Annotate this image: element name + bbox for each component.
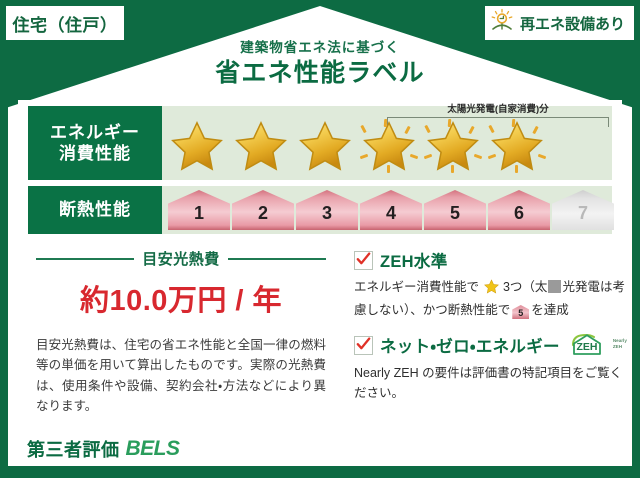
- insulation-grade-house: 3: [296, 190, 358, 230]
- insulation-grade-number: 3: [322, 203, 332, 224]
- criteria-zeh-level-title: ZEH水準: [380, 248, 448, 272]
- heading-rule-left: [36, 258, 134, 260]
- evaluation-id: 63407ea7-6e4d-4664: [473, 455, 618, 465]
- criteria-net-zero-desc: Nearly ZEH の要件は評価書の特記項目をご覧ください。: [354, 363, 627, 403]
- insulation-grade-scale: 1234567: [162, 190, 614, 230]
- utility-cost-heading: 目安光熱費: [36, 248, 326, 269]
- sparkle-icon: [384, 119, 388, 127]
- criteria-desc-star-count: 3つ（太: [503, 280, 547, 294]
- star-icon: [294, 117, 356, 175]
- bels-badge: 第三者評価 BELS: [18, 432, 189, 466]
- insulation-grade-house: 4: [360, 190, 422, 230]
- renewable-badge-label: 再エネ設備あり: [520, 13, 625, 34]
- utility-cost-value: 約10.0万円 / 年: [36, 277, 326, 319]
- energy-performance-row: エネルギー 消費性能 太陽光発電(自家消費)分: [28, 106, 612, 180]
- label-header: 建築物省エネ法に基づく 省エネ性能ラベル: [0, 40, 640, 88]
- criteria-zeh-level-desc: エネルギー消費性能で 3つ（太光発電は考慮しない）、かつ断熱性能で5を達成: [354, 277, 627, 320]
- insulation-grade-number: 5: [450, 203, 460, 224]
- insulation-grade-number: 1: [194, 203, 204, 224]
- insulation-grade-house: 6: [488, 190, 550, 230]
- criteria-net-zero-head: ネット・ゼロ・エネルギー ZEH Nearly ZEH: [354, 332, 627, 358]
- star-icon: [166, 117, 228, 175]
- star-icon: [480, 283, 502, 297]
- energy-performance-body: 太陽光発電(自家消費)分: [162, 106, 612, 180]
- evaluation-info: 評価日 2026年3月23日 63407ea7-6e4d-4664: [473, 433, 622, 465]
- check-icon: [354, 336, 373, 355]
- insulation-grade-number: 7: [578, 203, 588, 224]
- criteria-zeh-level-head: ZEH水準: [354, 248, 627, 272]
- property-name: グランディール柏の葉 201号室: [199, 439, 408, 459]
- energy-performance-label: エネルギー 消費性能: [28, 106, 162, 180]
- header-subtitle: 建築物省エネ法に基づく: [0, 40, 640, 56]
- sun-solar-icon: [489, 8, 515, 39]
- insulation-grade-house: 7: [552, 190, 614, 230]
- star-icon: [230, 117, 292, 175]
- building-type-badge: 住宅（住戸）: [6, 6, 124, 40]
- bels-label-en: BELS: [126, 437, 180, 461]
- star-icon: [486, 117, 548, 175]
- star-icon: [422, 117, 484, 175]
- utility-cost-note: 目安光熱費は、住宅の省エネ性能と全国一律の燃料等の単価を用いて算出したものです。…: [36, 335, 326, 416]
- heading-rule-right: [228, 258, 326, 260]
- sparkle-icon: [512, 119, 516, 127]
- criteria-desc-part3: を達成: [531, 303, 569, 317]
- lower-detail-area: 目安光熱費 約10.0万円 / 年 目安光熱費は、住宅の省エネ性能と全国一律の燃…: [18, 244, 622, 416]
- zeh-logo-sub-line1: Nearly: [613, 338, 627, 343]
- criteria-net-zero-energy: ネット・ゼロ・エネルギー ZEH Nearly ZEH: [354, 332, 627, 403]
- energy-performance-label-line2: 消費性能: [59, 143, 131, 164]
- house-grade-icon: 5: [512, 305, 529, 319]
- check-icon: [354, 251, 373, 270]
- zeh-logo-sub-line2: ZEH: [613, 344, 622, 349]
- bels-label-jp: 第三者評価: [27, 436, 120, 462]
- insulation-performance-body: 1234567: [162, 186, 614, 234]
- zeh-house-logo-icon: ZEH: [570, 332, 606, 358]
- main-content-card: エネルギー 消費性能 太陽光発電(自家消費)分 断熱性能 1234567: [18, 100, 622, 418]
- insulation-grade-house: 5: [424, 190, 486, 230]
- criteria-column: ZEH水準 エネルギー消費性能で 3つ（太光発電は考慮しない）、かつ断熱性能で5…: [340, 244, 640, 416]
- insulation-grade-number: 2: [258, 203, 268, 224]
- utility-cost-column: 目安光熱費 約10.0万円 / 年 目安光熱費は、住宅の省エネ性能と全国一律の燃…: [18, 244, 340, 416]
- renewable-energy-badge: 再エネ設備あり: [485, 6, 634, 40]
- insulation-grade-number: 4: [386, 203, 396, 224]
- solar-annotation-label: 太陽光発電(自家消費)分: [387, 105, 609, 115]
- insulation-grade-number: 6: [514, 203, 524, 224]
- evaluation-date: 評価日 2026年3月23日: [473, 433, 618, 453]
- page-title: 省エネ性能ラベル: [0, 59, 640, 88]
- criteria-desc-part1: エネルギー消費性能で: [354, 280, 479, 294]
- energy-performance-label: 住宅（住戸） 再エネ設備あり 建築物省エネ法に基づく 省エネ性能ラベル: [0, 0, 640, 478]
- sparkle-icon: [387, 165, 390, 173]
- insulation-performance-row: 断熱性能 1234567: [28, 186, 612, 234]
- sparkle-icon: [451, 165, 454, 173]
- star-rating: [162, 117, 548, 175]
- energy-performance-label-line1: エネルギー: [50, 122, 140, 143]
- redaction-block-icon: [548, 280, 561, 293]
- utility-cost-heading-text: 目安光熱費: [142, 248, 220, 269]
- insulation-performance-label-text: 断熱性能: [59, 199, 131, 220]
- insulation-grade-house: 1: [168, 190, 230, 230]
- star-icon: [358, 117, 420, 175]
- insulation-grade-house: 2: [232, 190, 294, 230]
- sparkle-icon: [448, 119, 452, 127]
- insulation-performance-label: 断熱性能: [28, 186, 162, 234]
- sparkle-icon: [515, 165, 518, 173]
- criteria-net-zero-title: ネット・ゼロ・エネルギー: [380, 333, 560, 357]
- zeh-logo-subtext: Nearly ZEH: [613, 338, 627, 351]
- svg-text:ZEH: ZEH: [576, 341, 597, 353]
- label-footer: 第三者評価 BELS グランディール柏の葉 201号室 評価日 2026年3月2…: [18, 430, 622, 468]
- criteria-zeh-level: ZEH水準 エネルギー消費性能で 3つ（太光発電は考慮しない）、かつ断熱性能で5…: [354, 248, 627, 320]
- building-type-badge-label: 住宅（住戸）: [13, 11, 118, 36]
